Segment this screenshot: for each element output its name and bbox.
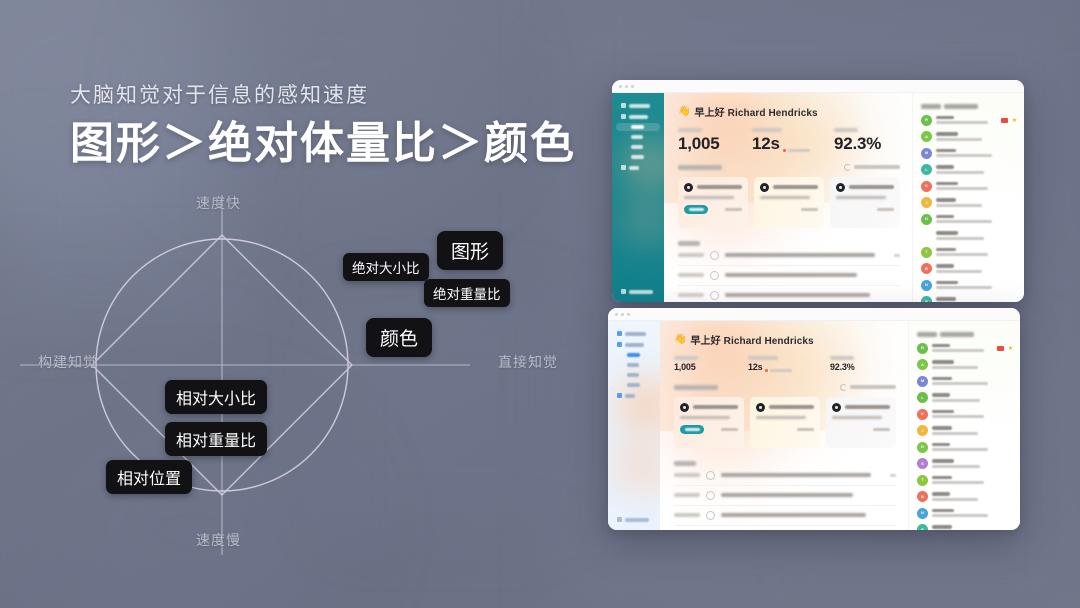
contact-row[interactable]: A	[917, 359, 1013, 370]
contact-email	[932, 514, 988, 517]
diagram-label-1: 绝对大小比	[343, 253, 429, 281]
window-control-dot[interactable]	[619, 85, 622, 88]
info-card-2[interactable]	[754, 177, 824, 228]
contact-row[interactable]: R	[921, 115, 1017, 126]
avatar: J	[917, 425, 928, 436]
contact-row[interactable]: K	[917, 409, 1013, 420]
card-description	[832, 416, 882, 420]
contact-email	[936, 121, 988, 124]
sidebar-item-5[interactable]	[612, 371, 656, 379]
contact-text	[932, 476, 1013, 485]
refresh-label	[850, 385, 896, 389]
contact-text	[936, 198, 1017, 207]
contacts-header	[921, 104, 1017, 109]
stat-card-2: 12s	[752, 128, 834, 152]
main-content: 👋早上好 Richard Hendricks1,00512s92.3%12	[660, 321, 908, 530]
task-checkbox[interactable]	[706, 511, 715, 520]
card-header	[836, 183, 894, 192]
main-inner: 👋早上好 Richard Hendricks1,00512s92.3%12	[664, 93, 912, 302]
contact-name	[936, 264, 954, 268]
section-header	[674, 384, 896, 391]
task-date	[674, 513, 700, 517]
stat-label	[678, 128, 702, 132]
task-checkbox[interactable]	[710, 251, 719, 260]
sidebar-item-6[interactable]	[616, 153, 660, 161]
card-meta	[725, 208, 742, 211]
sidebar-item-2[interactable]	[612, 340, 656, 349]
contact-email	[936, 204, 982, 207]
sidebar-item-label	[631, 155, 644, 159]
trend-down-icon	[783, 149, 786, 152]
info-card-1[interactable]	[678, 177, 748, 228]
contact-name	[932, 393, 950, 397]
avatar-initial: P	[921, 528, 924, 531]
sidebar-item-label	[625, 332, 646, 336]
card-footer-spacer	[756, 425, 762, 434]
contact-text	[936, 182, 1017, 191]
axis-label-left: 构建知觉	[38, 352, 98, 372]
avatar-initial: A	[921, 363, 924, 367]
avatar-initial: P	[925, 300, 928, 303]
task-overflow-icon[interactable]	[894, 254, 900, 257]
task-title	[721, 493, 853, 497]
greeting-row: 👋早上好 Richard Hendricks	[674, 332, 896, 347]
sidebar[interactable]	[608, 321, 660, 530]
avatar-initial: J	[925, 201, 927, 205]
avatar: N	[921, 280, 932, 291]
avatar-initial: M	[921, 379, 924, 383]
stat-delta-label	[770, 369, 792, 372]
avatar: R	[917, 343, 928, 354]
contact-email	[936, 270, 982, 273]
contact-email	[932, 382, 988, 385]
sidebar-item-footer[interactable]	[612, 515, 656, 524]
avatar: S	[917, 458, 928, 469]
stat-value: 1,005	[678, 135, 720, 152]
contact-email	[932, 349, 984, 352]
card-icon-dot	[839, 186, 842, 189]
card-action-label	[689, 208, 704, 211]
avatar: R	[921, 115, 932, 126]
window-control-dot[interactable]	[627, 313, 630, 316]
sidebar-item-label	[629, 115, 648, 119]
contact-row[interactable]: D	[921, 214, 1017, 225]
card-action-button[interactable]	[684, 205, 708, 214]
task-title	[721, 513, 866, 517]
contact-row[interactable]: J	[921, 197, 1017, 208]
avatar: B	[921, 263, 932, 274]
avatar: J	[921, 197, 932, 208]
contact-text	[936, 149, 1017, 158]
window-bottom[interactable]: 👋早上好 Richard Hendricks1,00512s92.3%12RAM…	[608, 308, 1020, 530]
contact-email	[932, 465, 980, 468]
stat-card-3: 92.3%	[830, 356, 908, 372]
sidebar-item-1[interactable]	[612, 329, 656, 338]
contact-row[interactable]: J	[917, 425, 1013, 436]
greeting-text: 早上好 Richard Hendricks	[690, 332, 813, 347]
avatar: T	[921, 247, 932, 258]
card-title	[849, 185, 894, 189]
sidebar-item-5[interactable]	[616, 143, 660, 151]
contact-row[interactable]: B	[917, 491, 1013, 502]
contact-email	[936, 154, 992, 157]
window-body: 👋早上好 Richard Hendricks1,00512s92.3%12RAM…	[608, 321, 1020, 530]
task-list	[674, 461, 896, 526]
contact-name	[936, 165, 954, 169]
contact-name	[936, 132, 958, 136]
home-icon	[621, 114, 626, 119]
task-list-title	[678, 241, 700, 246]
contact-name	[932, 443, 950, 447]
info-icon	[617, 517, 622, 522]
menu-icon	[621, 165, 626, 170]
sidebar-footer-label	[629, 290, 653, 294]
info-card-3[interactable]	[830, 177, 900, 228]
task-date	[674, 493, 700, 497]
card-footer	[684, 205, 742, 214]
window-titlebar[interactable]	[608, 308, 1020, 321]
contact-email	[936, 253, 988, 256]
task-row[interactable]	[674, 506, 896, 526]
card-row	[678, 177, 900, 228]
stats-row: 1,00512s92.3%12	[678, 128, 900, 152]
window-body: 👋早上好 Richard Hendricks1,00512s92.3%12RAM…	[612, 93, 1024, 302]
sidebar-item-2[interactable]	[616, 112, 660, 121]
contact-row[interactable]: P	[921, 296, 1017, 302]
contacts-header-label-2	[944, 104, 978, 109]
contact-text	[932, 410, 1013, 419]
contact-text	[932, 525, 1013, 530]
contact-name	[932, 492, 950, 496]
section-header	[678, 164, 900, 171]
window-control-dot[interactable]	[621, 313, 624, 316]
contact-email	[936, 220, 992, 223]
sidebar-item-6[interactable]	[612, 381, 656, 389]
contact-text	[932, 377, 1013, 386]
avatar: T	[917, 475, 928, 486]
contact-text	[936, 116, 997, 125]
stat-delta	[783, 149, 810, 152]
card-action-label	[685, 428, 700, 431]
refresh-link[interactable]	[844, 164, 900, 171]
stat-card-3: 92.3%	[834, 128, 912, 152]
card-description	[756, 416, 806, 420]
card-footer	[760, 205, 818, 214]
contacts-header-label-1	[921, 104, 941, 109]
sidebar-item-label	[629, 166, 639, 170]
card-title	[845, 405, 890, 409]
avatar: M	[921, 148, 932, 159]
sidebar-item-4[interactable]	[616, 133, 660, 141]
window-top[interactable]: 👋早上好 Richard Hendricks1,00512s92.3%12RAM…	[612, 80, 1024, 302]
contact-row[interactable]: A	[921, 131, 1017, 142]
avatar: L	[917, 392, 928, 403]
section-title	[674, 385, 718, 390]
card-meta	[801, 208, 818, 211]
diagram-label-2: 图形	[437, 231, 503, 270]
contact-row[interactable]: N	[921, 280, 1017, 291]
stat-card-1: 1,005	[678, 128, 752, 152]
refresh-link[interactable]	[840, 384, 896, 391]
contact-row[interactable]: T	[921, 247, 1017, 258]
task-checkbox[interactable]	[706, 471, 715, 480]
stat-delta	[765, 369, 792, 372]
task-overflow-icon[interactable]	[890, 474, 896, 477]
contacts-header-label-1	[917, 332, 937, 337]
contact-name	[936, 231, 958, 235]
task-row[interactable]	[674, 466, 896, 486]
card-header	[760, 183, 818, 192]
sidebar-item-3[interactable]	[612, 351, 656, 359]
avatar-initial: B	[921, 495, 924, 499]
contact-row[interactable]: M	[921, 148, 1017, 159]
card-header	[832, 403, 890, 412]
task-row[interactable]	[678, 266, 900, 286]
contact-star-icon[interactable]	[1008, 346, 1013, 351]
info-card-1[interactable]	[674, 397, 744, 448]
axis-label-bottom: 速度慢	[196, 530, 241, 550]
contact-row[interactable]: R	[917, 343, 1013, 354]
trend-down-icon	[765, 369, 768, 372]
contact-star-icon[interactable]	[1012, 118, 1017, 123]
avatar: D	[917, 442, 928, 453]
contact-row[interactable]: T	[917, 475, 1013, 486]
contact-email	[936, 237, 984, 240]
contact-name	[932, 459, 954, 463]
contact-name	[936, 215, 954, 219]
avatar: K	[917, 409, 928, 420]
contact-row[interactable]: M	[917, 376, 1013, 387]
diagram-label-3: 绝对重量比	[424, 279, 510, 307]
card-icon	[832, 403, 841, 412]
contact-name	[936, 198, 956, 202]
contact-text	[936, 132, 1017, 141]
sidebar-item-label	[627, 373, 639, 377]
avatar-initial: T	[925, 250, 927, 254]
contact-name	[936, 182, 958, 186]
card-description	[684, 196, 734, 200]
wave-hand-icon: 👋	[678, 107, 690, 117]
contact-name	[932, 360, 954, 364]
sidebar-item-4[interactable]	[612, 361, 656, 369]
perception-diagram: 速度快 速度慢 构建知觉 直接知觉 绝对大小比图形绝对重量比颜色相对大小比相对重…	[0, 175, 600, 575]
avatar: P	[921, 296, 932, 302]
avatar: P	[917, 524, 928, 530]
sidebar-item-label	[629, 104, 650, 108]
stat-label	[748, 356, 778, 360]
contact-row[interactable]: D	[917, 442, 1013, 453]
contact-email	[932, 415, 984, 418]
task-date	[678, 273, 704, 277]
card-description	[836, 196, 886, 200]
contact-row[interactable]: S	[921, 230, 1017, 241]
stat-value-row: 92.3%	[834, 135, 912, 152]
sidebar-item-label	[631, 145, 643, 149]
contact-row[interactable]: L	[917, 392, 1013, 403]
home-icon	[617, 342, 622, 347]
card-icon	[756, 403, 765, 412]
kicker-text: 大脑知觉对于信息的感知速度	[70, 82, 576, 109]
task-title	[725, 293, 870, 297]
contact-row[interactable]: P	[917, 524, 1013, 530]
card-icon-dot	[759, 406, 762, 409]
card-title	[693, 405, 738, 409]
contact-text	[932, 459, 1013, 468]
contact-row[interactable]: N	[917, 508, 1013, 519]
stats-row: 1,00512s92.3%12	[674, 356, 896, 372]
task-date	[678, 293, 704, 297]
diagram-label-5: 相对大小比	[165, 380, 267, 414]
contact-name	[936, 248, 956, 252]
contact-text	[932, 443, 1013, 452]
contact-name	[936, 116, 954, 120]
stat-value-row: 92.3%	[830, 363, 908, 372]
contacts-header-label-2	[940, 332, 974, 337]
avatar-initial: B	[925, 267, 928, 271]
card-meta	[721, 428, 738, 431]
card-footer	[680, 425, 738, 434]
stat-value-row: 12s	[752, 135, 834, 152]
diagram-label-6: 相对重量比	[165, 422, 267, 456]
avatar-initial: D	[925, 217, 928, 221]
avatar-initial: R	[921, 346, 924, 350]
stat-value: 92.3%	[830, 363, 855, 372]
axis-label-top: 速度快	[196, 193, 241, 213]
contact-row[interactable]: K	[921, 181, 1017, 192]
contact-row[interactable]: S	[917, 458, 1013, 469]
contact-row[interactable]: L	[921, 164, 1017, 175]
task-row[interactable]	[674, 486, 896, 506]
contact-text	[932, 393, 1013, 402]
card-footer	[756, 425, 814, 434]
menu-icon	[621, 103, 626, 108]
contact-email	[932, 498, 978, 501]
main-inner: 👋早上好 Richard Hendricks1,00512s92.3%12	[660, 321, 908, 526]
contact-email	[932, 481, 984, 484]
contact-text	[932, 360, 1013, 369]
headline-group: 大脑知觉对于信息的感知速度 图形＞绝对体量比＞颜色	[70, 82, 576, 170]
avatar: B	[917, 491, 928, 502]
card-footer	[832, 425, 890, 434]
axis-label-right: 直接知觉	[498, 352, 558, 372]
contacts-panel: RAMLKJDSTBNPC	[908, 321, 1020, 530]
task-row[interactable]	[678, 286, 900, 303]
diagram-label-4: 颜色	[366, 318, 432, 357]
contact-email	[932, 448, 988, 451]
contact-name	[936, 281, 958, 285]
sidebar-glow-secondary	[620, 197, 664, 245]
card-icon	[680, 403, 689, 412]
contact-text	[936, 248, 1017, 257]
contact-flag-icon	[997, 346, 1004, 351]
contact-text	[936, 215, 1017, 224]
task-checkbox[interactable]	[710, 291, 719, 300]
contact-text	[936, 231, 1017, 240]
stat-label	[674, 356, 698, 360]
sidebar[interactable]	[612, 93, 664, 302]
sidebar-item-7[interactable]	[616, 163, 660, 172]
stat-value: 12s	[748, 363, 762, 372]
stat-card-2: 12s	[748, 356, 830, 372]
card-action-button[interactable]	[680, 425, 704, 434]
card-icon-dot	[687, 186, 690, 189]
contacts-header	[917, 332, 1013, 337]
stat-card-1: 1,005	[674, 356, 748, 372]
refresh-icon	[844, 164, 851, 171]
card-title	[769, 405, 814, 409]
sidebar-item-label	[631, 135, 643, 139]
contact-name	[932, 377, 952, 381]
sidebar-item-label	[631, 125, 644, 129]
stat-label	[752, 128, 782, 132]
card-header	[680, 403, 738, 412]
task-row[interactable]	[678, 246, 900, 266]
card-meta	[873, 428, 890, 431]
avatar-initial: L	[925, 168, 927, 172]
sidebar-footer-label	[625, 518, 649, 522]
window-control-dot[interactable]	[615, 313, 618, 316]
sidebar-item-label	[627, 363, 639, 367]
contact-text	[932, 509, 1013, 518]
avatar-initial: N	[921, 511, 924, 515]
avatar-initial: S	[921, 462, 924, 466]
avatar: S	[921, 230, 932, 241]
card-footer	[836, 205, 894, 214]
stat-delta-label	[788, 149, 810, 152]
avatar: M	[917, 376, 928, 387]
avatar-initial: K	[925, 184, 928, 188]
task-checkbox[interactable]	[710, 271, 719, 280]
diagram-label-7: 相对位置	[106, 460, 192, 494]
greeting-row: 👋早上好 Richard Hendricks	[678, 104, 900, 119]
window-control-dot[interactable]	[625, 85, 628, 88]
avatar-initial: J	[921, 429, 923, 433]
avatar-initial: D	[921, 445, 924, 449]
contact-text	[936, 297, 1017, 302]
task-list-title	[674, 461, 696, 466]
diagram-svg	[0, 175, 600, 575]
card-meta	[877, 208, 894, 211]
task-checkbox[interactable]	[706, 491, 715, 500]
sidebar-item-label	[625, 343, 644, 347]
contact-email	[932, 399, 980, 402]
avatar-initial: M	[925, 151, 928, 155]
sidebar-item-7[interactable]	[612, 391, 656, 400]
avatar: A	[921, 131, 932, 142]
card-icon-dot	[763, 186, 766, 189]
window-titlebar[interactable]	[612, 80, 1024, 93]
contact-email	[936, 171, 984, 174]
avatar: L	[921, 164, 932, 175]
contact-name	[932, 509, 954, 513]
contact-email	[932, 432, 978, 435]
info-card-3[interactable]	[826, 397, 896, 448]
sidebar-item-1[interactable]	[616, 101, 660, 110]
menu-icon	[617, 393, 622, 398]
sidebar-item-footer[interactable]	[616, 287, 660, 296]
contact-text	[932, 344, 993, 353]
refresh-icon	[840, 384, 847, 391]
window-control-dot[interactable]	[631, 85, 634, 88]
avatar-initial: K	[921, 412, 924, 416]
info-card-2[interactable]	[750, 397, 820, 448]
contact-name	[932, 344, 950, 348]
contact-flag-icon	[1001, 118, 1008, 123]
sidebar-item-3[interactable]	[616, 123, 660, 131]
avatar-initial: L	[921, 396, 923, 400]
contact-row[interactable]: B	[921, 263, 1017, 274]
contact-email	[936, 187, 988, 190]
